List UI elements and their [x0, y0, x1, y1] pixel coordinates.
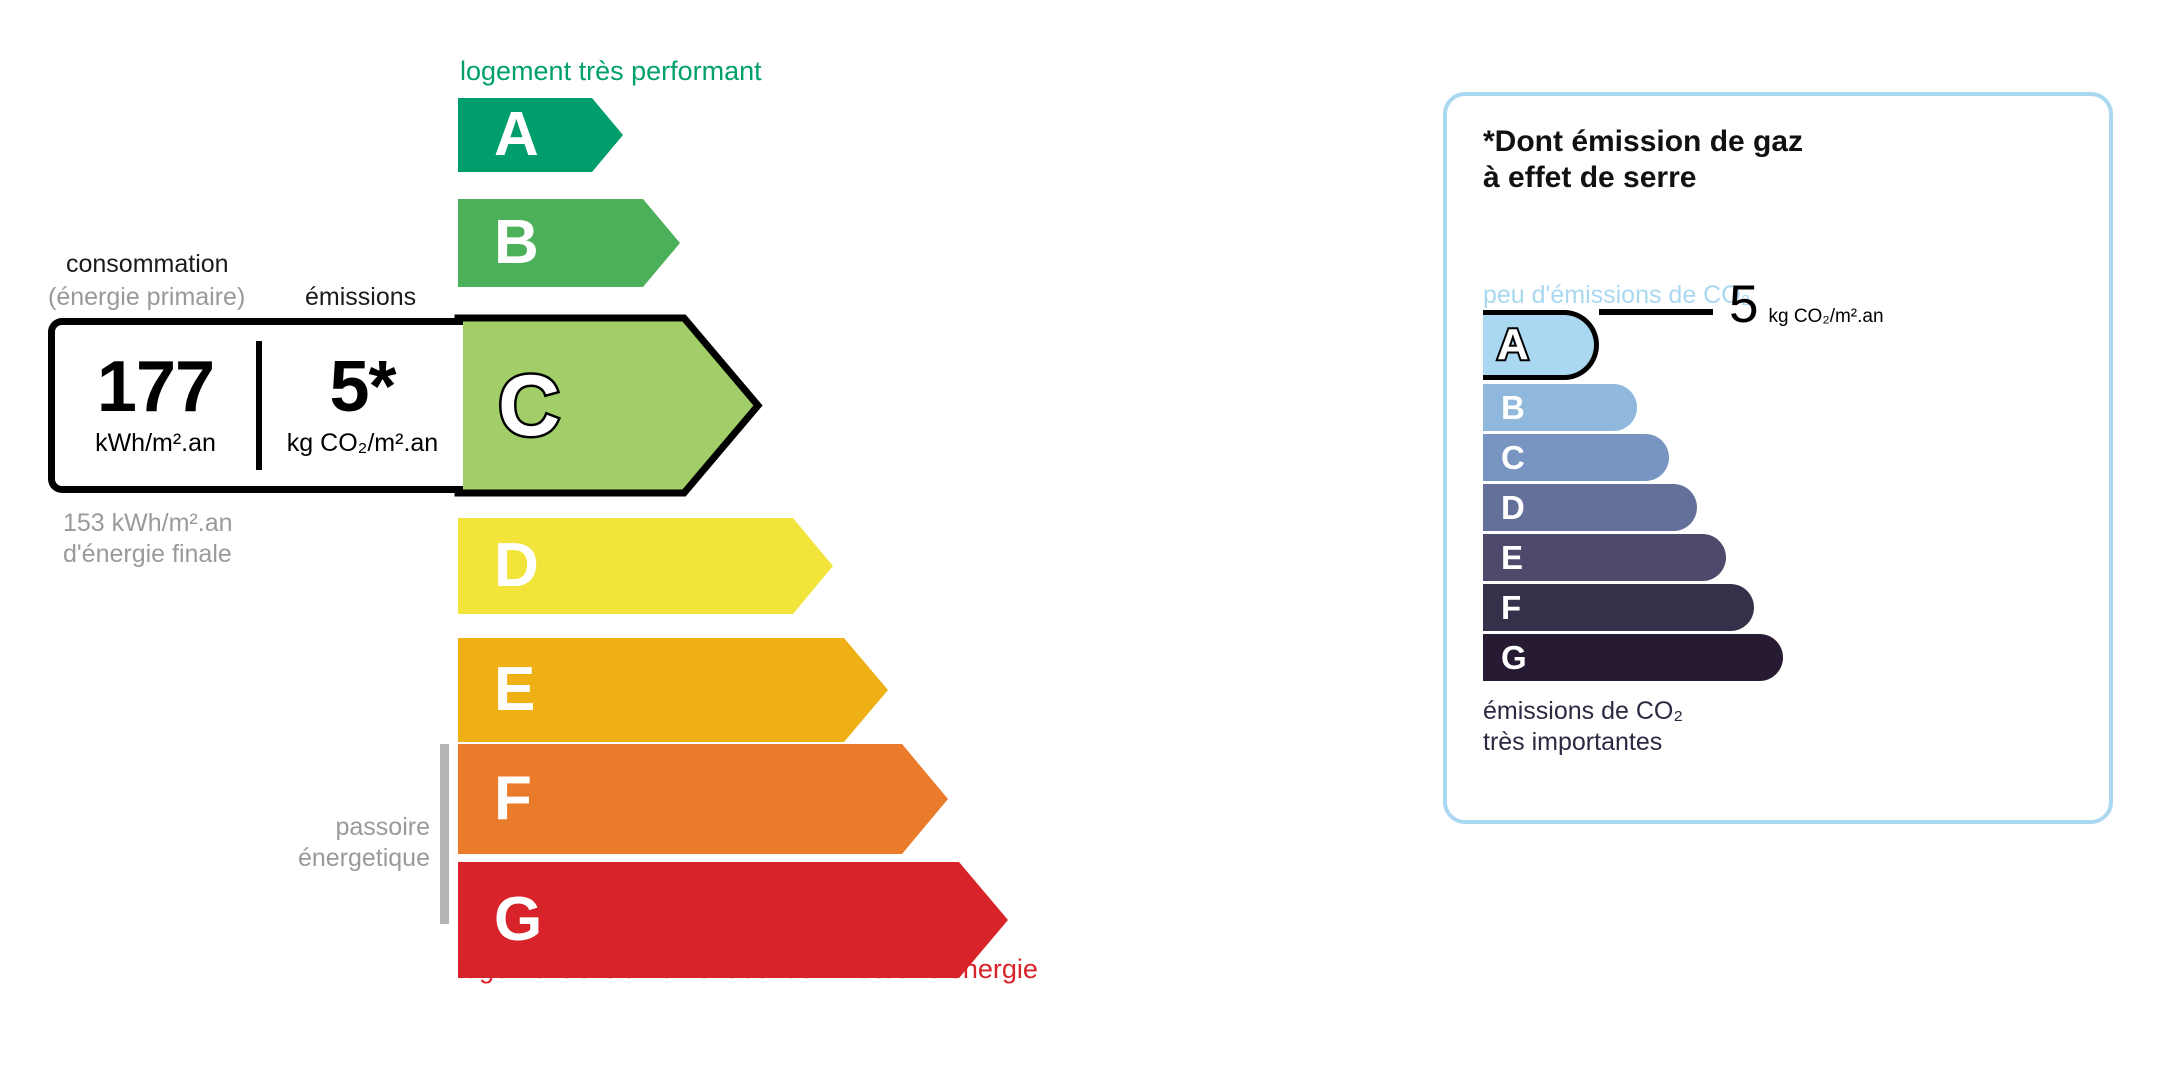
emissions-header: émissions: [305, 283, 416, 312]
energy-band-e: E: [458, 638, 888, 742]
scale-bottom-label: logement extrêmement consommateur d'éner…: [458, 954, 1038, 985]
co2-bar-letter-g: G: [1501, 641, 1527, 674]
energy-band-letter-e: E: [494, 659, 535, 721]
energy-band-d: D: [458, 518, 833, 614]
emissions-value-cell: 5* kg CO₂/m².an: [262, 325, 463, 486]
energy-band-letter-g: G: [494, 889, 542, 951]
consumption-unit: kWh/m².an: [95, 429, 216, 458]
co2-bar-letter-b: B: [1501, 391, 1525, 424]
co2-bar-letter-e: E: [1501, 541, 1523, 574]
co2-bar-b: B: [1483, 384, 1637, 431]
co2-bar-g: G: [1483, 634, 1783, 681]
co2-value: 5: [1729, 278, 1758, 331]
co2-title-line1: *Dont émission de gaz: [1483, 124, 1803, 160]
energy-band-letter-d: D: [494, 535, 539, 597]
consumption-value-cell: 177 kWh/m².an: [55, 325, 256, 486]
co2-bar-letter-a: A: [1497, 323, 1529, 367]
consumption-subheader: (énergie primaire): [48, 283, 245, 312]
energy-band-shape-a: [458, 98, 623, 172]
co2-title-line2: à effet de serre: [1483, 160, 1803, 196]
co2-bar-c: C: [1483, 434, 1669, 481]
passoire-line1: passoire: [270, 812, 430, 843]
emissions-unit: kg CO₂/m².an: [287, 429, 438, 458]
co2-bar-letter-d: D: [1501, 491, 1525, 524]
co2-top-label: peu d'émissions de CO₂: [1483, 281, 1750, 310]
consumption-value: 177: [97, 353, 214, 421]
co2-bar-letter-f: F: [1501, 591, 1521, 624]
co2-bar-f: F: [1483, 584, 1754, 631]
co2-card-title: *Dont émission de gaz à effet de serre: [1483, 124, 1803, 196]
co2-bottom-label: émissions de CO₂ très importantes: [1483, 696, 1683, 758]
co2-bar-letter-c: C: [1501, 441, 1525, 474]
co2-bottom-line2: très importantes: [1483, 727, 1683, 758]
energy-band-a: A: [458, 98, 623, 172]
co2-bar-e: E: [1483, 534, 1726, 581]
emissions-value: 5*: [329, 353, 395, 421]
energy-band-letter-a: A: [494, 104, 539, 166]
energy-consumption-scale: logement très performant ABCDEFG consomm…: [0, 0, 1320, 1079]
consumption-header: consommation: [66, 250, 229, 279]
energy-band-letter-c: C: [498, 363, 560, 449]
final-energy-label: d'énergie finale: [63, 539, 233, 570]
passoire-bracket: [440, 744, 449, 924]
passoire-annotation: passoire énergetique: [270, 812, 430, 874]
energy-band-shape-b: [458, 199, 680, 287]
co2-bottom-line1: émissions de CO₂: [1483, 696, 1683, 727]
energy-band-c: C: [458, 318, 758, 493]
co2-leader-line: [1599, 309, 1713, 315]
co2-emissions-card: *Dont émission de gaz à effet de serre p…: [1443, 92, 2113, 824]
co2-bar-d: D: [1483, 484, 1697, 531]
energy-band-letter-b: B: [494, 212, 539, 274]
energy-band-b: B: [458, 199, 680, 287]
co2-bar-a: A: [1483, 310, 1599, 380]
energy-band-f: F: [458, 744, 948, 854]
scale-top-label: logement très performant: [460, 56, 762, 87]
final-energy-annotation: 153 kWh/m².an d'énergie finale: [63, 508, 233, 570]
final-energy-value: 153 kWh/m².an: [63, 508, 233, 539]
value-box: 177 kWh/m².an 5* kg CO₂/m².an: [48, 318, 463, 493]
energy-band-letter-f: F: [494, 768, 532, 830]
co2-value-callout: 5 kg CO₂/m².an: [1729, 278, 1884, 331]
co2-unit: kg CO₂/m².an: [1768, 306, 1883, 328]
passoire-line2: énergetique: [270, 843, 430, 874]
